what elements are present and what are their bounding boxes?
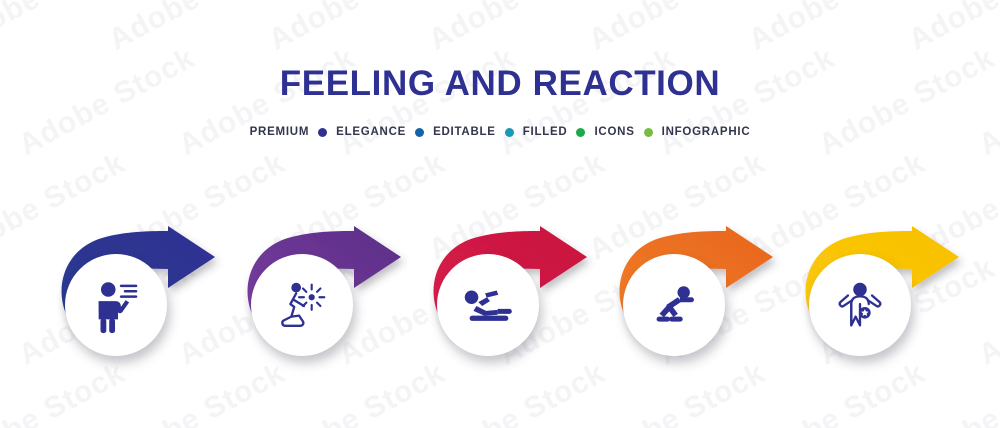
step-icon-circle[interactable] — [251, 254, 353, 356]
legend-item-premium[interactable]: PREMIUM — [250, 126, 310, 138]
legend-item-editable[interactable]: EDITABLE — [406, 126, 496, 138]
step-5[interactable] — [784, 226, 984, 401]
step-icon-circle[interactable] — [65, 254, 167, 356]
legend-dot-icon — [576, 128, 585, 137]
legend: PREMIUMELEGANCEEDITABLEFILLEDICONSINFOGR… — [0, 126, 1000, 138]
step-icon-circle[interactable] — [809, 254, 911, 356]
person-lying-back-icon — [457, 274, 519, 336]
step-1[interactable] — [40, 226, 240, 401]
legend-dot-icon — [415, 128, 424, 137]
legend-item-label: ICONS — [594, 126, 634, 138]
legend-item-label: EDITABLE — [433, 126, 496, 138]
legend-item-filled[interactable]: FILLED — [496, 126, 568, 138]
legend-item-label: FILLED — [523, 126, 568, 138]
steps-row — [0, 226, 1000, 401]
legend-item-icons[interactable]: ICONS — [567, 126, 634, 138]
legend-dot-icon — [505, 128, 514, 137]
legend-item-label: ELEGANCE — [336, 126, 406, 138]
legend-item-infographic[interactable]: INFOGRAPHIC — [635, 126, 751, 138]
infographic-page: FEELING AND REACTION PREMIUMELEGANCEEDIT… — [0, 0, 1000, 428]
page-title: FEELING AND REACTION — [0, 0, 1000, 103]
person-arms-raised-star-icon — [829, 274, 891, 336]
legend-dot-icon — [644, 128, 653, 137]
legend-item-elegance[interactable]: ELEGANCE — [309, 126, 406, 138]
step-icon-circle[interactable] — [437, 254, 539, 356]
person-talking-icon — [85, 274, 147, 336]
header: FEELING AND REACTION — [0, 0, 1000, 103]
person-sitting-with-sparkler-icon — [271, 274, 333, 336]
step-4[interactable] — [598, 226, 798, 401]
legend-item-label: PREMIUM — [250, 126, 310, 138]
step-2[interactable] — [226, 226, 426, 401]
step-icon-circle[interactable] — [623, 254, 725, 356]
legend-item-label: INFOGRAPHIC — [662, 126, 751, 138]
step-3[interactable] — [412, 226, 612, 401]
legend-dot-icon — [318, 128, 327, 137]
person-crawling-icon — [643, 274, 705, 336]
